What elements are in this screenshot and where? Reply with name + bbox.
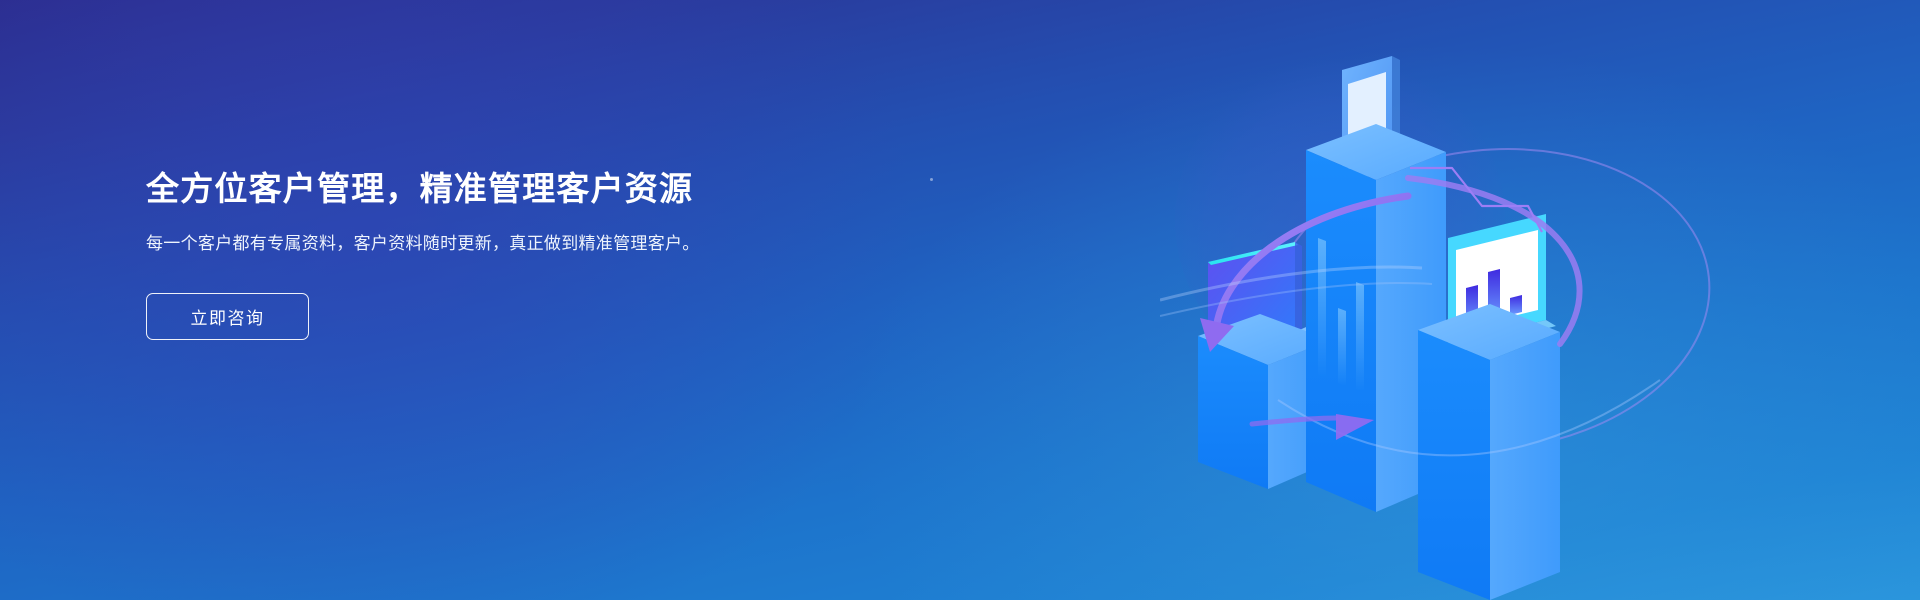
pillar-right-front [1418,330,1490,600]
hero-subcopy: 每一个客户都有专属资料，客户资料随时更新，真正做到精准管理客户。 [146,230,746,258]
consult-now-button[interactable]: 立即咨询 [146,293,309,340]
background-speck [930,178,933,181]
hero-banner: 全方位客户管理，精准管理客户资源 每一个客户都有专属资料，客户资料随时更新，真正… [0,0,1920,600]
mini-bar-3 [1510,295,1522,315]
pillar-right-side [1490,332,1560,600]
hero-copy-block: 全方位客户管理，精准管理客户资源 每一个客户都有专属资料，客户资料随时更新，真正… [146,168,786,340]
page-title: 全方位客户管理，精准管理客户资源 [146,168,786,209]
hero-illustration [1160,0,1920,600]
